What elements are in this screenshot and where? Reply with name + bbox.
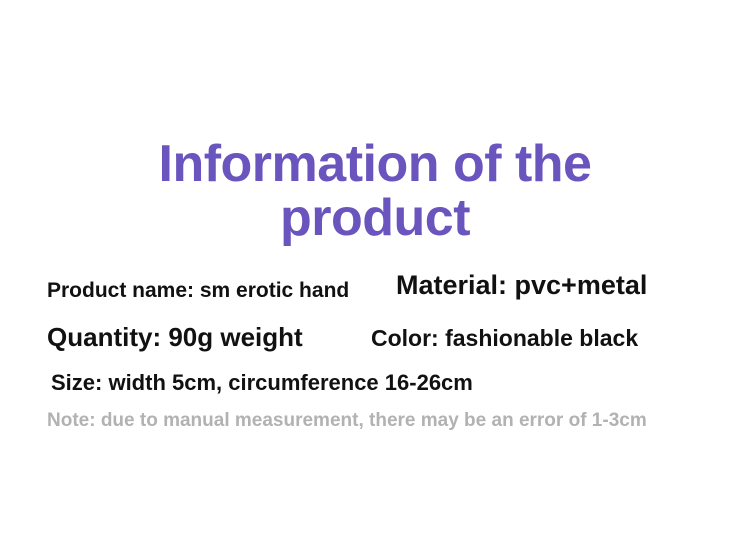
- spec-size: Size: width 5cm, circumference 16-26cm: [51, 372, 473, 394]
- page-title: Information of the product: [0, 138, 750, 245]
- page-title-line-2: product: [0, 192, 750, 246]
- product-information-card: Information of the product Product name:…: [0, 0, 750, 534]
- spec-material: Material: pvc+metal: [396, 272, 647, 299]
- page-title-line-1: Information of the: [0, 138, 750, 192]
- measurement-note: Note: due to manual measurement, there m…: [47, 411, 647, 430]
- spec-list: Product name: sm erotic hand Material: p…: [0, 272, 750, 392]
- spec-product-name: Product name: sm erotic hand: [47, 280, 349, 301]
- spec-quantity: Quantity: 90g weight: [47, 324, 303, 350]
- spec-color: Color: fashionable black: [371, 327, 638, 350]
